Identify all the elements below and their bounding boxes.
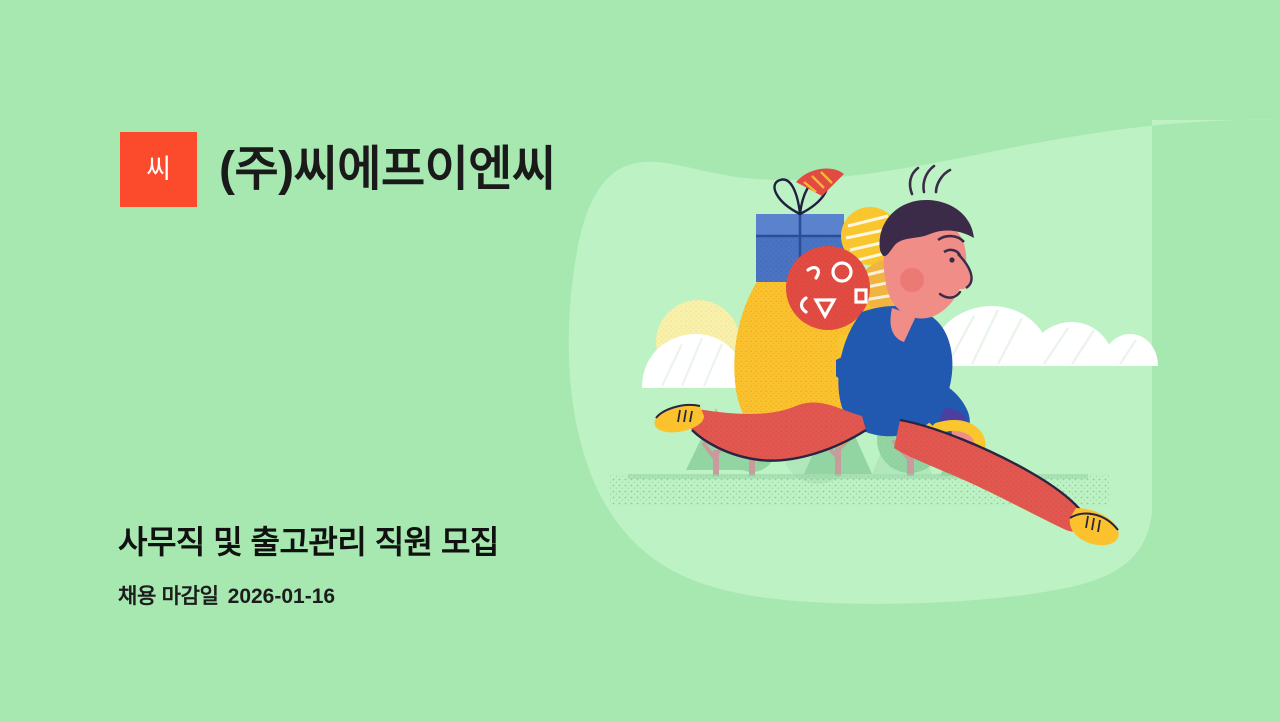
delivery-runner-illustration — [600, 130, 1180, 590]
deadline-date: 2026-01-16 — [228, 585, 335, 609]
posting-summary: 사무직 및 출고관리 직원 모집 채용 마감일 2026-01-16 — [118, 522, 638, 610]
company-header: 씨 (주)씨에프이엔씨 — [120, 132, 556, 207]
bush-cluster-right — [930, 306, 1158, 366]
job-posting-banner: 씨 (주)씨에프이엔씨 사무직 및 출고관리 직원 모집 채용 마감일 2026… — [0, 0, 1280, 722]
job-title: 사무직 및 출고관리 직원 모집 — [118, 522, 638, 562]
company-name: (주)씨에프이엔씨 — [219, 146, 556, 194]
logo-glyph: 씨 — [146, 156, 171, 183]
ball-red-symbols — [786, 246, 870, 330]
deadline-row: 채용 마감일 2026-01-16 — [118, 580, 638, 610]
company-logo-icon: 씨 — [120, 132, 197, 207]
deadline-label: 채용 마감일 — [118, 580, 219, 610]
wedge-red — [796, 168, 844, 196]
